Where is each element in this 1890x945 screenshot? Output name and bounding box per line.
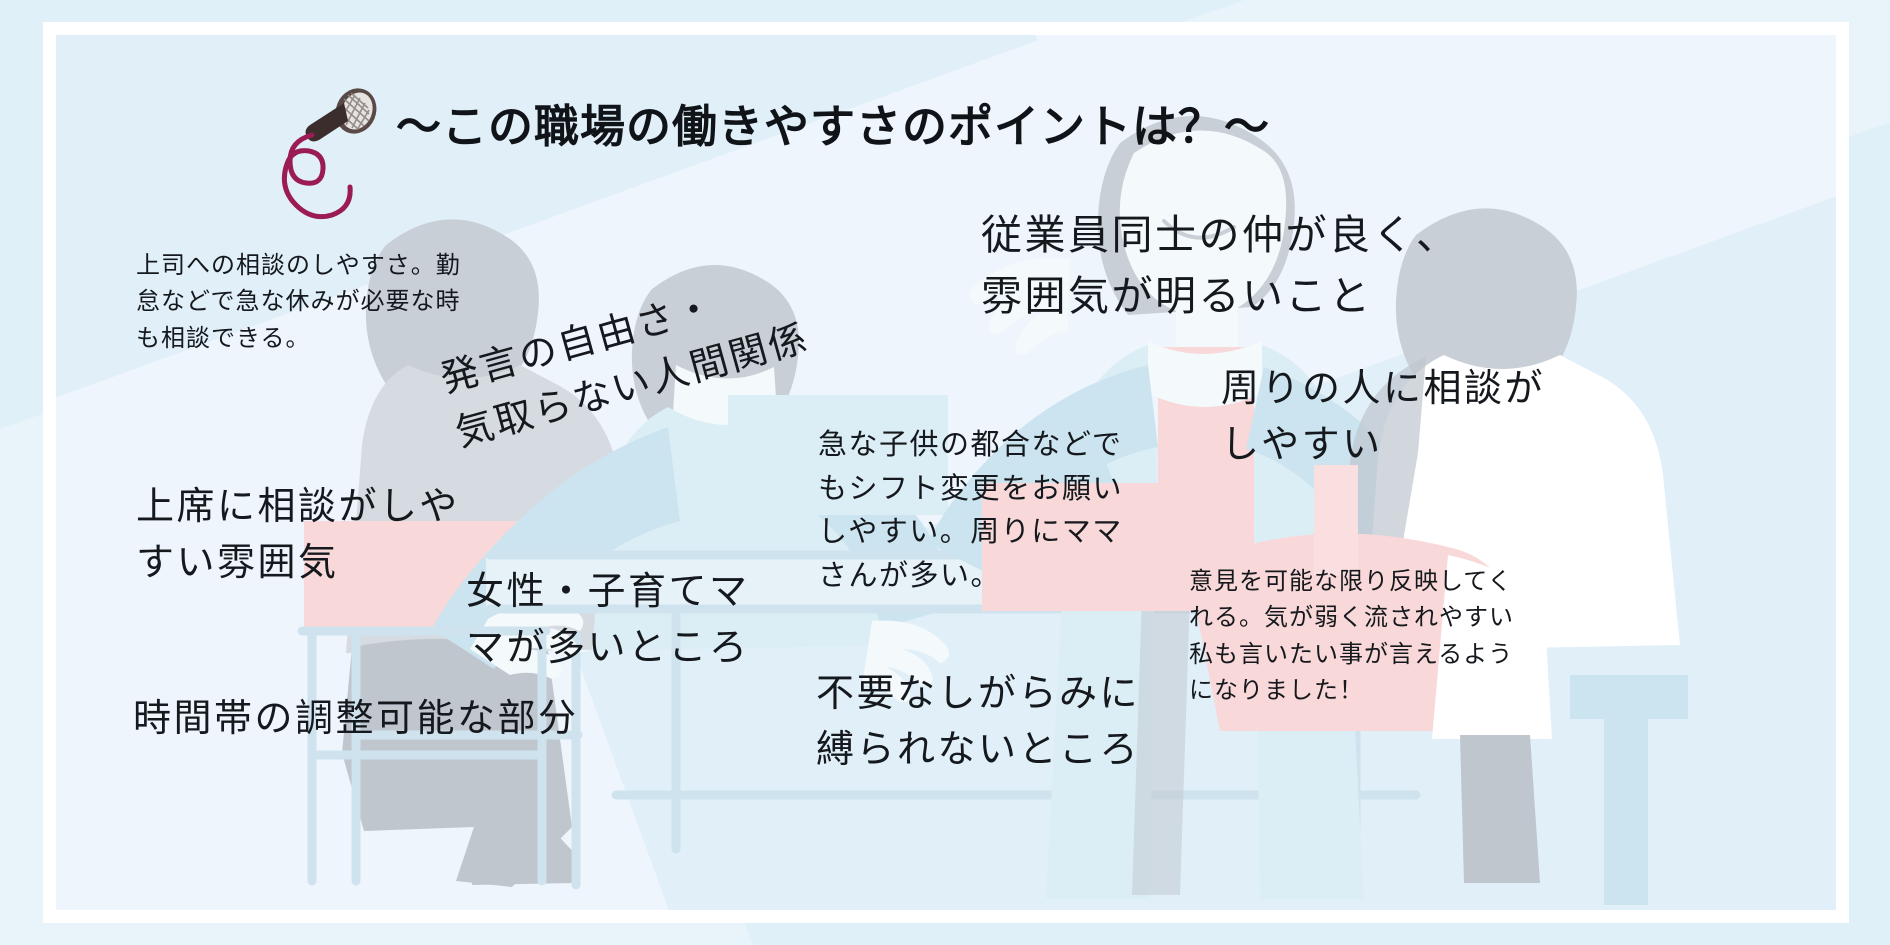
quote-many-working-moms: 女性・子育てマ マが多いところ — [466, 563, 750, 675]
quote-schedule-adjustment: 時間帯の調整可能な部分 — [133, 690, 579, 746]
quote-easy-to-consult: 周りの人に相談が しやすい — [1221, 360, 1545, 472]
quote-no-unnecessary-ties: 不要なしがらみに 縛られないところ — [816, 665, 1140, 777]
canvas-diagonal-band-bottom — [576, 74, 1836, 910]
poster-canvas: .gry { fill:#c9cfd6; } .gry2 { fill:#d5d… — [56, 35, 1836, 910]
quote-freedom-of-speech: 発言の自由さ・ 気取らない人間関係 — [434, 256, 815, 462]
quote-opinions-reflected: 意見を可能な限り反映してく れる。気が弱く流されやすい 私も言いたい事が言えるよ… — [1189, 563, 1514, 709]
quote-boss-consultation: 上司への相談のしやすさ。勤 怠などで急な休みが必要な時 も相談できる。 — [136, 247, 461, 356]
quote-senior-atmosphere: 上席に相談がしや すい雰囲気 — [136, 478, 460, 590]
page-title: 〜この職場の働きやすさのポイントは？〜 — [396, 90, 1270, 155]
quote-employee-relations: 従業員同士の仲が良く、 雰囲気が明るいこと — [981, 205, 1460, 326]
quote-shift-change: 急な子供の都合などで もシフト変更をお願い しやすい。周りにママ さんが多い。 — [818, 423, 1123, 597]
poster-stage: .gry { fill:#c9cfd6; } .gry2 { fill:#d5d… — [0, 0, 1890, 945]
microphone-icon — [256, 73, 406, 223]
microphone-graphic — [256, 73, 406, 223]
white-frame: .gry { fill:#c9cfd6; } .gry2 { fill:#d5d… — [43, 22, 1849, 923]
